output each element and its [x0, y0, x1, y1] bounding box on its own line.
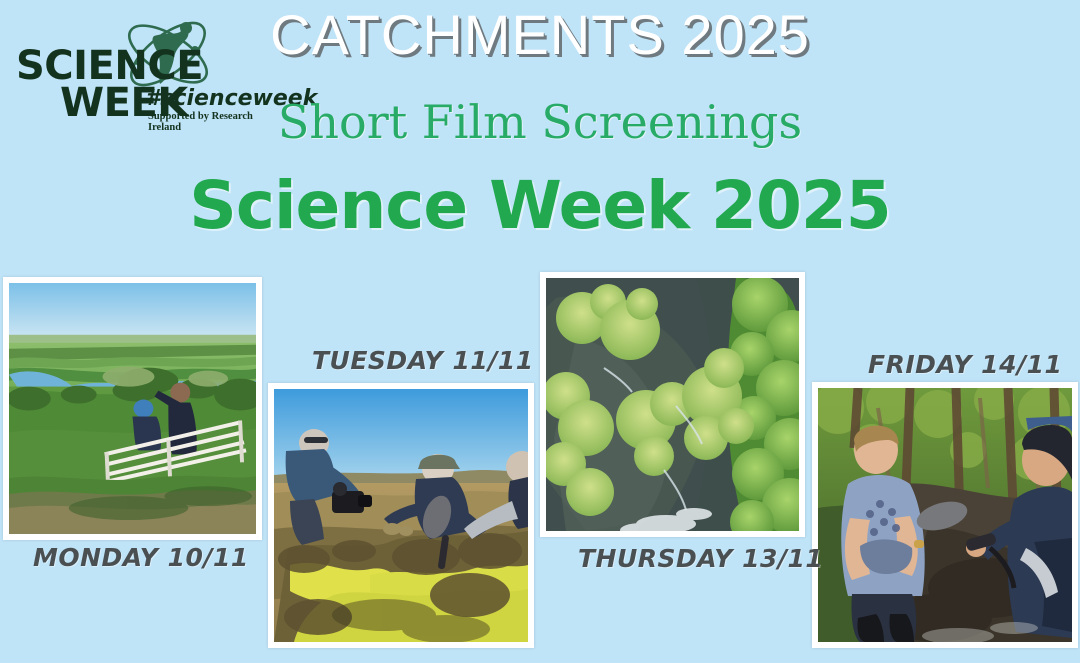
photo-thursday-aerial-river	[546, 278, 799, 531]
poster-headline: CATCHMENTS 2025	[0, 4, 1080, 66]
photo-friday-stream-interview	[818, 388, 1072, 642]
photo-frame-friday	[812, 382, 1078, 648]
caption-monday: MONDAY 10/11	[33, 545, 249, 570]
poster-canvas: SCIENCE WEEK #scienceweek Supported by R…	[0, 0, 1080, 663]
photo-frame-monday	[3, 277, 262, 540]
photo-frame-tuesday	[268, 383, 534, 648]
photo-monday-river-valley	[9, 283, 256, 534]
photo-tuesday-bog-filming	[274, 389, 528, 642]
poster-title: Science Week 2025	[0, 170, 1080, 243]
poster-subheadline: Short Film Screenings	[0, 97, 1080, 148]
caption-thursday: THURSDAY 13/11	[578, 546, 823, 571]
photo-frame-thursday	[540, 272, 805, 537]
caption-tuesday: TUESDAY 11/11	[312, 348, 534, 373]
caption-friday: FRIDAY 14/11	[868, 352, 1062, 377]
